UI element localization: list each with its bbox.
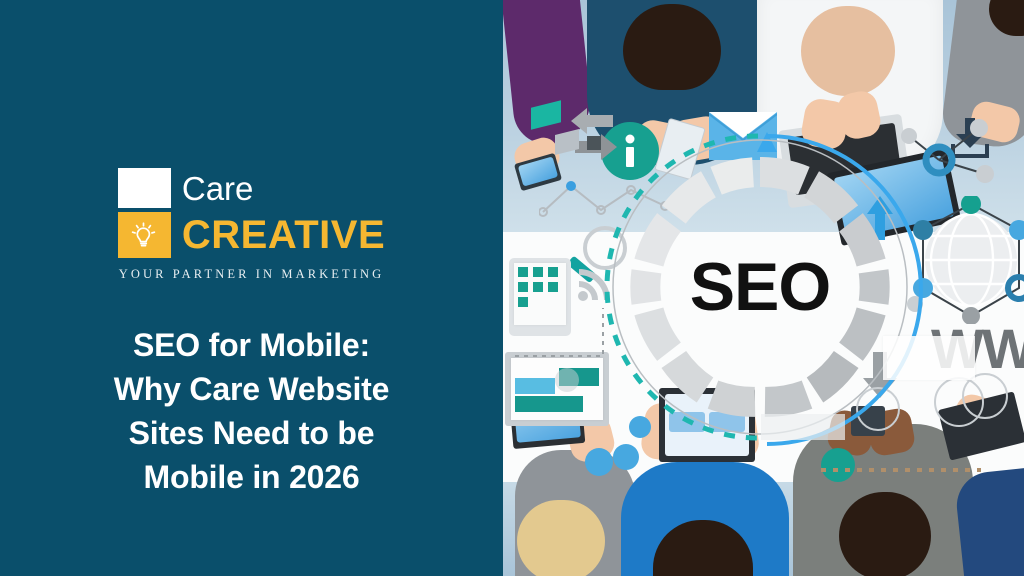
desk-scene: WWW [503,0,1024,576]
page-title: SEO for Mobile: Why Care Website Sites N… [52,323,452,499]
logo-row-care: Care [118,168,385,208]
logo-rows: Care [118,168,385,258]
lightbulb-icon [129,219,159,251]
logo-white-block-icon [118,168,171,208]
logo-creative-text: CREATIVE [182,215,385,255]
hair-navy-person [623,4,721,90]
logo-row-creative: CREATIVE [118,212,385,258]
seo-center-label: SEO [625,152,895,422]
headline-line-4: Mobile in 2026 [52,455,452,499]
hero-photo: WWW [503,0,1024,576]
logo-care-text: Care [182,172,254,205]
headline-line-3: Sites Need to be [52,411,452,455]
paper-sheet-2 [761,414,845,440]
left-text-panel: Care [0,0,503,576]
monitor-bar-1 [515,378,555,394]
hair-grey-jacket [839,492,931,576]
blog-banner: Care [0,0,1024,576]
monitor-bar-3 [515,396,583,412]
dot-grey-1 [555,368,579,392]
headline-line-1: SEO for Mobile: [52,323,452,367]
care-creative-logo[interactable]: Care [118,168,385,282]
dot-blue-1 [585,448,613,476]
logo-tagline: YOUR PARTNER IN MARKETING [119,267,385,282]
head-bald-man [801,6,895,96]
logo-yellow-block [118,212,171,258]
dotted-line-bottom [821,462,981,478]
hair-blonde [517,500,605,576]
paper-sheet-1 [883,336,975,380]
headline-line-2: Why Care Website [52,367,452,411]
seo-ring: SEO [625,152,895,422]
